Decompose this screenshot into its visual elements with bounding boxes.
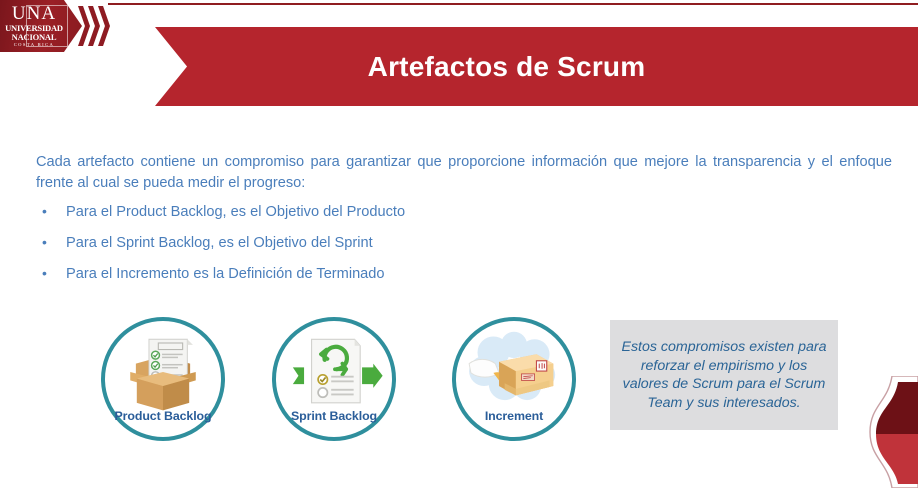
- logo-line-una: UNA: [12, 4, 56, 23]
- page-title: Artefactos de Scrum: [368, 51, 646, 83]
- list-item: • Para el Product Backlog, es el Objetiv…: [42, 204, 662, 235]
- artifact-circle-sprint-backlog: Sprint Backlog: [272, 317, 396, 441]
- corner-ornament: [848, 376, 918, 488]
- list-item-label: Para el Incremento es la Definición de T…: [66, 266, 385, 282]
- list-item: • Para el Sprint Backlog, es el Objetivo…: [42, 235, 662, 266]
- header-top-rule: [108, 3, 918, 5]
- artifact-label: Increment: [456, 409, 572, 423]
- quote-text: Estos compromisos existen para reforzar …: [618, 338, 830, 412]
- delivered-package-icon: [456, 329, 572, 415]
- bullet-marker-icon: •: [42, 235, 66, 249]
- artifact-label: Product Backlog: [105, 409, 221, 423]
- artifact-circle-product-backlog: Product Backlog: [101, 317, 225, 441]
- una-logo: UNA UNIVERSIDAD NACIONAL COSTA RICA: [0, 0, 82, 52]
- bullet-list: • Para el Product Backlog, es el Objetiv…: [42, 204, 662, 297]
- list-item-label: Para el Product Backlog, es el Objetivo …: [66, 204, 405, 220]
- list-item: • Para el Incremento es la Definición de…: [42, 266, 662, 297]
- logo-line-nacional: NACIONAL: [12, 33, 57, 42]
- artifact-circle-increment: Increment: [452, 317, 576, 441]
- title-banner: Artefactos de Scrum: [155, 27, 918, 106]
- lead-paragraph: Cada artefacto contiene un compromiso pa…: [36, 152, 892, 194]
- sprint-document-arrows-icon: [276, 329, 392, 415]
- quote-callout-box: Estos compromisos existen para reforzar …: [610, 320, 838, 430]
- open-box-checklist-icon: [105, 329, 221, 415]
- bullet-marker-icon: •: [42, 204, 66, 218]
- corner-swoosh-icon: [848, 376, 918, 488]
- artifact-label: Sprint Backlog: [276, 409, 392, 423]
- logo-line-costa-rica: COSTA RICA: [14, 42, 55, 48]
- list-item-label: Para el Sprint Backlog, es el Objetivo d…: [66, 235, 373, 251]
- bullet-marker-icon: •: [42, 266, 66, 280]
